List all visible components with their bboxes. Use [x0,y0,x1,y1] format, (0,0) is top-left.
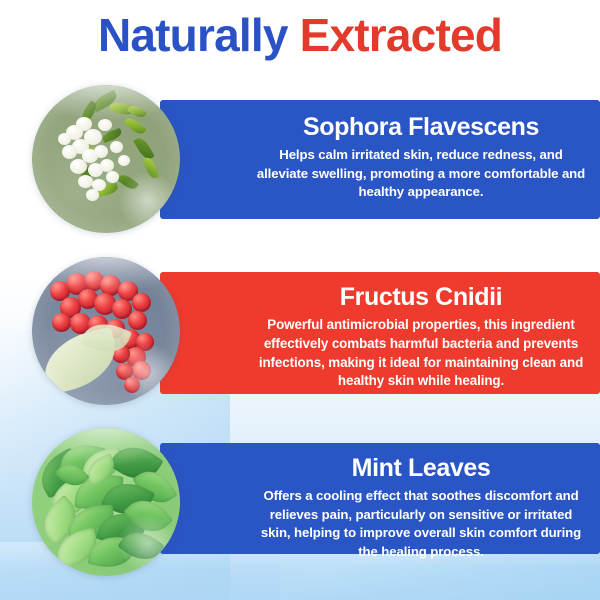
ingredient-row: Mint Leaves Offers a cooling effect that… [0,428,600,588]
ingredient-name: Mint Leaves [256,452,586,485]
ingredient-banner: Mint Leaves Offers a cooling effect that… [160,443,600,554]
page-title-word-primary: Naturally [98,9,288,61]
ingredient-photo [32,428,180,576]
ingredient-banner: Fructus Cnidii Powerful antimicrobial pr… [160,272,600,394]
ingredient-description: Helps calm irritated skin, reduce rednes… [256,146,586,202]
page-header: Naturally Extracted [0,4,600,66]
ingredient-photo [32,85,180,233]
ingredient-photo [32,257,180,405]
naturally-extracted-infographic: Naturally Extracted Sophora Flavescens H… [0,0,600,600]
page-title-word-accent: Extracted [300,9,502,61]
ingredient-row: Sophora Flavescens Helps calm irritated … [0,85,600,245]
ingredient-image-fructus-cnidii [32,257,180,405]
ingredient-description: Offers a cooling effect that soothes dis… [256,487,586,561]
ingredient-description: Powerful antimicrobial properties, this … [256,316,586,391]
ingredient-name: Sophora Flavescens [256,111,586,144]
page-title: Naturally Extracted [0,4,600,66]
ingredient-name: Fructus Cnidii [256,281,586,314]
ingredient-image-sophora-flavescens [32,85,180,233]
ingredient-image-mint-leaves [32,428,180,576]
ingredient-banner: Sophora Flavescens Helps calm irritated … [160,100,600,219]
ingredient-row: Fructus Cnidii Powerful antimicrobial pr… [0,257,600,417]
